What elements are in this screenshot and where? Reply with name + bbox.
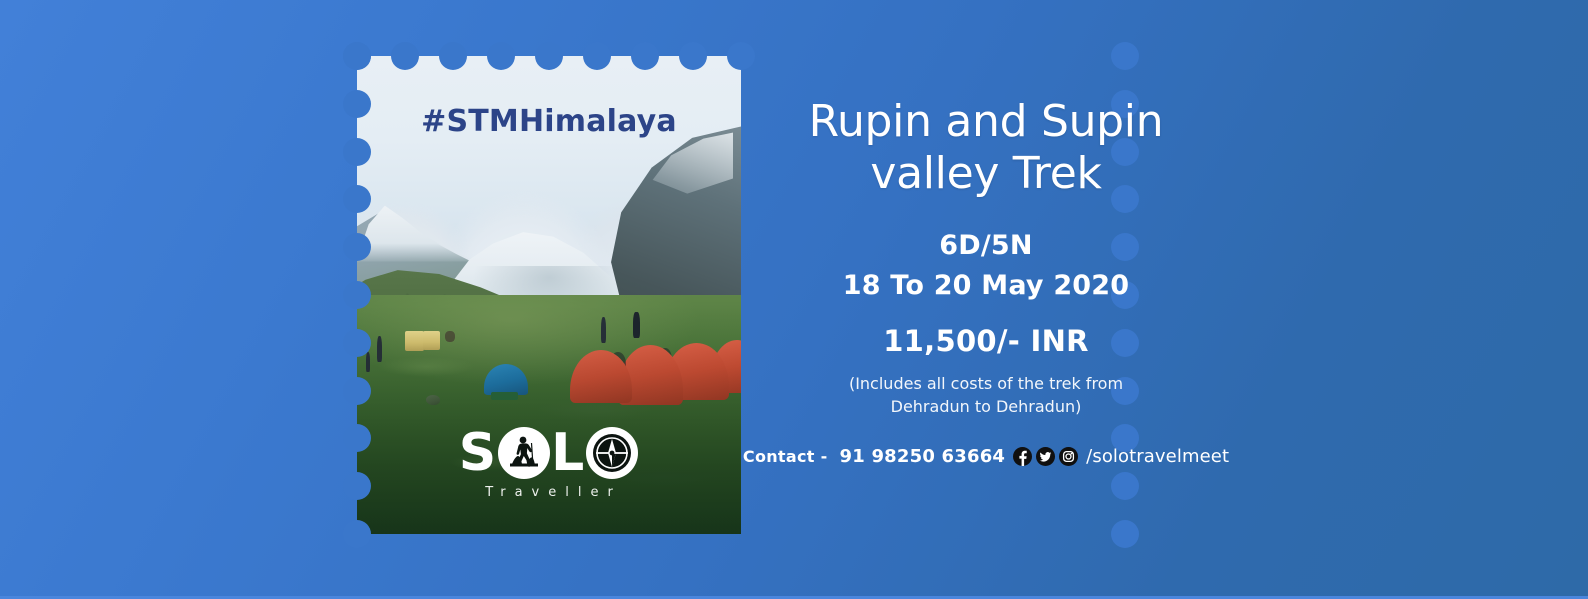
facebook-icon-svg	[1013, 447, 1032, 466]
trek-price: 11,500/- INR	[790, 324, 1182, 358]
stamp-inner: #STMHimalaya S L	[357, 56, 741, 534]
contact-label: Contact -	[743, 447, 828, 466]
price-inclusion-note: (Includes all costs of the trek from Deh…	[790, 372, 1182, 418]
logo-letter-l: L	[551, 427, 585, 479]
twitter-icon-svg	[1036, 447, 1055, 466]
hiker-icon-svg	[506, 434, 542, 472]
page-title: Rupin and Supin valley Trek	[790, 96, 1182, 200]
logo-wordmark: S L	[459, 427, 640, 479]
social-handle[interactable]: /solotravelmeet	[1086, 446, 1229, 467]
note-line-1: (Includes all costs of the trek from	[790, 372, 1182, 395]
twitter-icon[interactable]	[1036, 447, 1055, 466]
note-line-2: Dehradun to Dehradun)	[790, 395, 1182, 418]
contact-phone-number[interactable]: 91 98250 63664	[840, 446, 1006, 467]
travel-poster: #STMHimalaya S L	[0, 0, 1588, 599]
instagram-icon-svg	[1059, 447, 1078, 466]
trek-info-block: Rupin and Supin valley Trek 6D/5N 18 To …	[790, 96, 1182, 467]
facebook-icon[interactable]	[1013, 447, 1032, 466]
hiker-icon	[498, 427, 550, 479]
trek-duration: 6D/5N	[790, 230, 1182, 261]
logo-letter-s: S	[459, 427, 497, 479]
postage-stamp-photo-card: #STMHimalaya S L	[357, 56, 741, 534]
contact-row: Contact - 91 98250 63664	[790, 446, 1182, 467]
hashtag-label: #STMHimalaya	[357, 104, 741, 139]
trek-dates: 18 To 20 May 2020	[790, 270, 1182, 301]
instagram-icon[interactable]	[1059, 447, 1078, 466]
compass-icon	[586, 427, 638, 479]
solo-traveller-logo: S L	[357, 427, 741, 500]
compass-icon-svg	[592, 433, 632, 473]
title-line-1: Rupin and Supin	[790, 96, 1182, 148]
social-icon-group	[1013, 447, 1078, 466]
title-line-2: valley Trek	[790, 148, 1182, 200]
logo-tagline: Traveller	[357, 485, 741, 500]
